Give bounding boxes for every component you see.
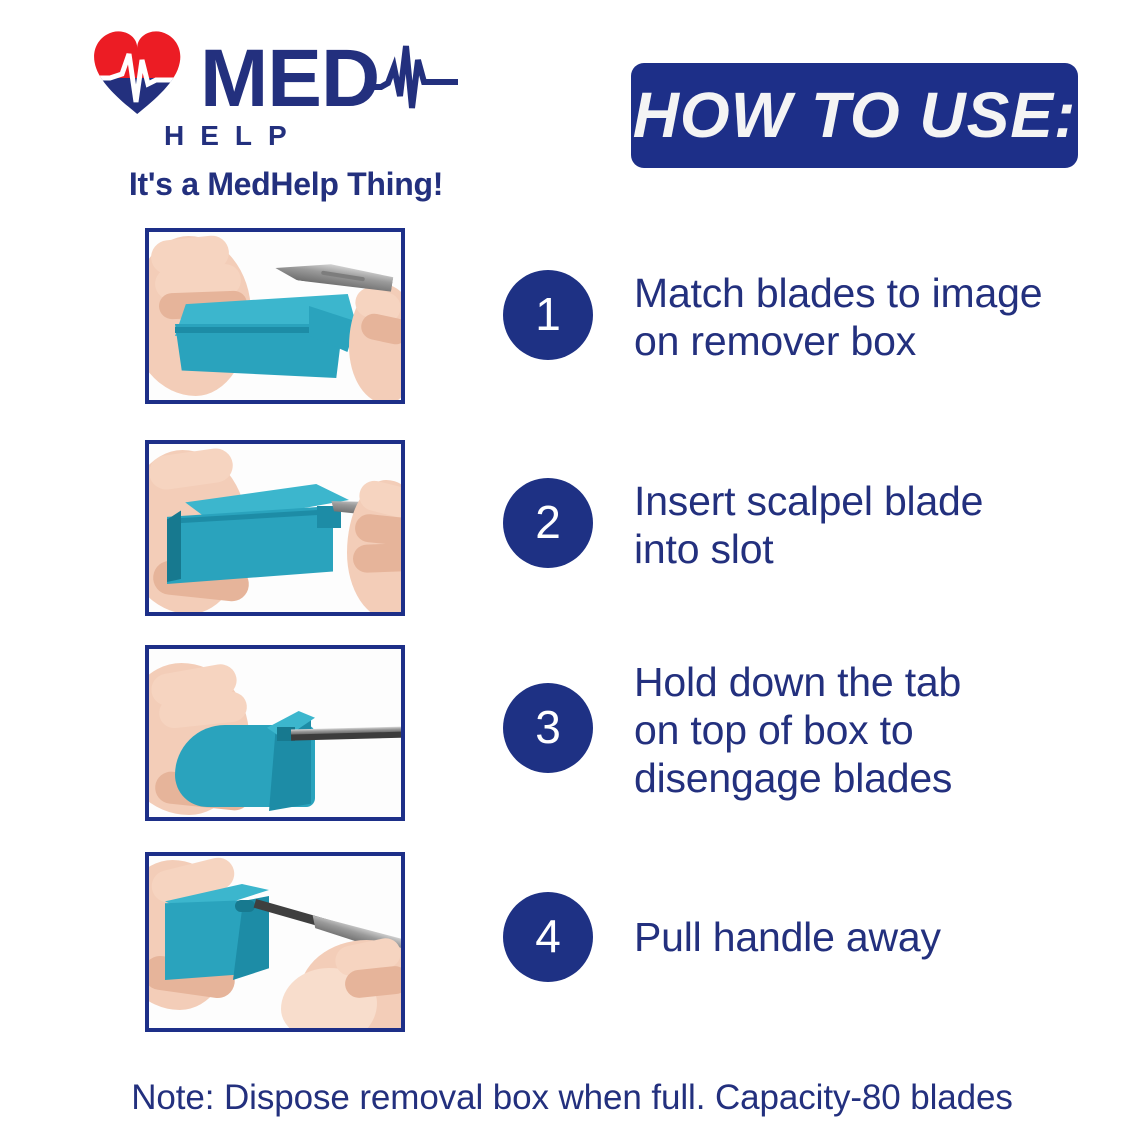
step-photo-3 [145, 645, 405, 821]
step-photo-2 [145, 440, 405, 616]
step-text-3-line-2: on top of box to [634, 706, 1104, 754]
step-text-2-line-2: into slot [634, 525, 1104, 573]
step-text-1-line-2: on remover box [634, 317, 1104, 365]
svg-text:MED: MED [200, 33, 379, 124]
step-text-3-line-1: Hold down the tab [634, 658, 1104, 706]
capacity-note: Note: Dispose removal box when full. Cap… [0, 1078, 1144, 1118]
step-text-3-line-3: disengage blades [634, 754, 1104, 802]
step-text-2-line-1: Insert scalpel blade [634, 477, 1104, 525]
step-text-3: Hold down the tab on top of box to disen… [634, 658, 1104, 802]
medhelp-logo-icon: MED [76, 24, 496, 134]
logo-subword-help: HELP [164, 120, 303, 152]
step-number-badge-1: 1 [503, 270, 593, 360]
step-number-badge-2: 2 [503, 478, 593, 568]
step-number-4: 4 [503, 892, 593, 982]
step-photo-4 [145, 852, 405, 1032]
step-text-4-line-1: Pull handle away [634, 913, 1104, 961]
step-text-4: Pull handle away [634, 913, 1104, 961]
step-text-1-line-1: Match blades to image [634, 269, 1104, 317]
brand-tagline: It's a MedHelp Thing! [86, 166, 486, 203]
step-text-2: Insert scalpel blade into slot [634, 477, 1104, 573]
step-number-badge-3: 3 [503, 683, 593, 773]
step-number-badge-4: 4 [503, 892, 593, 982]
step-number-1: 1 [503, 270, 593, 360]
how-to-use-title: HOW TO USE: [631, 76, 1078, 154]
ecg-line-icon [366, 46, 458, 108]
step-text-1: Match blades to image on remover box [634, 269, 1104, 365]
step-photo-1 [145, 228, 405, 404]
step-number-2: 2 [503, 478, 593, 568]
brand-logo-block: MED HELP It's a MedHelp Thing! [76, 18, 496, 198]
how-to-use-banner: HOW TO USE: [631, 63, 1078, 168]
step-number-3: 3 [503, 683, 593, 773]
heart-icon [76, 24, 216, 134]
